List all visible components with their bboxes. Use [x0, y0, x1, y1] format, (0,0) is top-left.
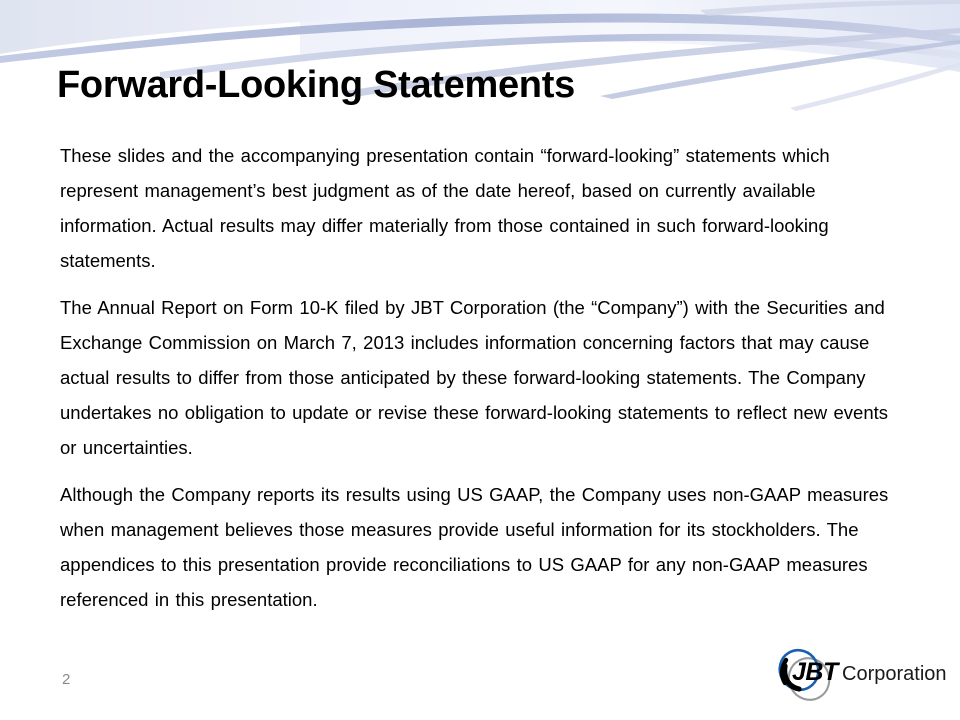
- paragraph-1: These slides and the accompanying presen…: [60, 138, 905, 278]
- paragraph-2: The Annual Report on Form 10-K filed by …: [60, 290, 905, 465]
- slide: Forward-Looking Statements These slides …: [0, 0, 960, 720]
- body-copy: These slides and the accompanying presen…: [60, 138, 905, 617]
- page-number: 2: [62, 671, 70, 688]
- page-title: Forward-Looking Statements: [57, 64, 575, 107]
- jbt-corporation-logo: JBT Corporation: [775, 645, 950, 703]
- paragraph-3: Although the Company reports its results…: [60, 477, 905, 617]
- logo-corporation-text: Corporation: [842, 664, 947, 684]
- jbt-rings-icon: JBT: [775, 646, 837, 702]
- jbt-wordmark: JBT: [792, 660, 838, 685]
